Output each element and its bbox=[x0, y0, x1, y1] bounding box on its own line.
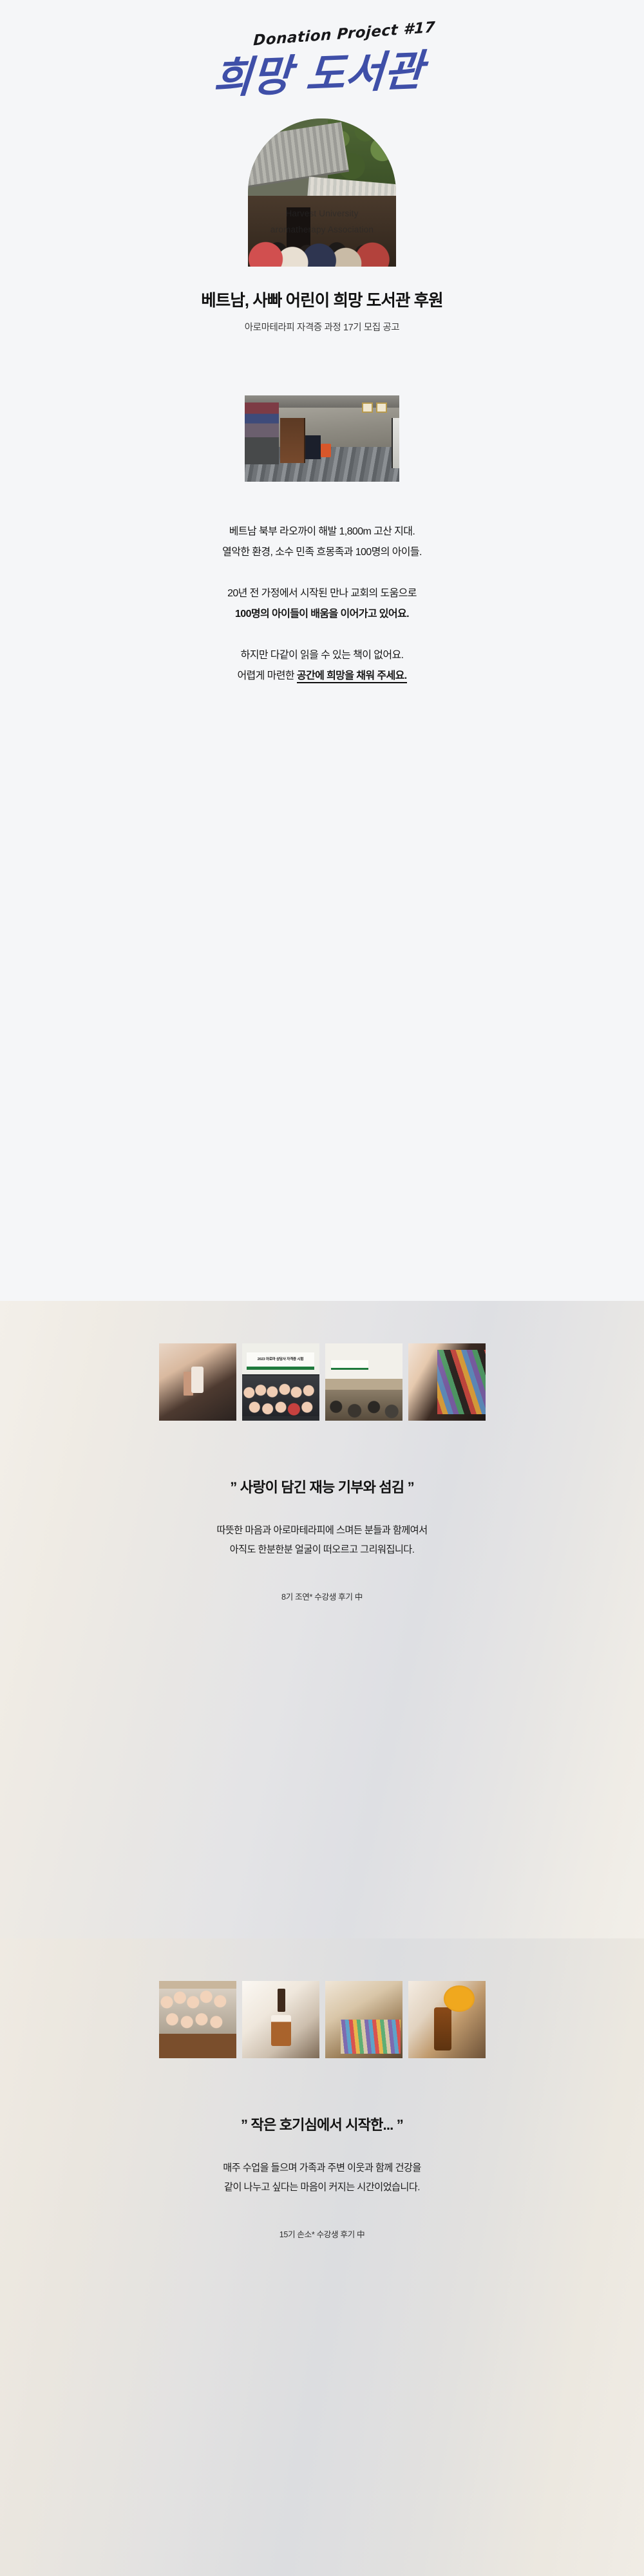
photo-grid-2 bbox=[0, 1938, 644, 2058]
testimonial-1-line1: 따뜻한 마음과 아로마테라피에 스며든 분들과 함께여서 bbox=[0, 1521, 644, 1540]
hero-section: Donation Project #17 희망 도서관 Harvest Univ… bbox=[0, 0, 644, 1301]
room-wall-frame-right bbox=[376, 402, 387, 413]
photo-dropper-into-jar[interactable] bbox=[242, 1981, 319, 2058]
testimonial-2-body: 매주 수업을 들으며 가족과 주변 이웃과 함께 건강을 같이 나누고 싶다는 … bbox=[0, 2159, 644, 2198]
story-p2-line1: 20년 전 가정에서 시작된 만나 교회의 도움으로 bbox=[0, 583, 644, 604]
testimonial-2-line2: 같이 나누고 싶다는 마음이 커지는 시간이었습니다. bbox=[0, 2178, 644, 2197]
exam-group-people bbox=[242, 1376, 319, 1416]
testimonial-1-body: 따뜻한 마음과 아로마테라피에 스며든 분들과 함께여서 아직도 한분한분 얼굴… bbox=[0, 1521, 644, 1560]
room-wall-frame-left bbox=[362, 402, 373, 413]
donation-landing-page: Donation Project #17 희망 도서관 Harvest Univ… bbox=[0, 0, 644, 2576]
testimonial-1-title: ” 사랑이 담긴 재능 기부와 섬김 ” bbox=[0, 1476, 644, 1497]
page-subtitle: 아로마테라피 자격증 과정 17기 모집 공고 bbox=[0, 320, 644, 334]
page-title: 베트남, 사빠 어린이 희망 도서관 후원 bbox=[0, 287, 644, 311]
story-p3-prefix: 어렵게 마련한 bbox=[237, 670, 296, 681]
testimonial-2-attribution: 15기 손소* 수강생 후기 中 bbox=[0, 2228, 644, 2240]
photo-test-strips[interactable] bbox=[408, 1343, 486, 1421]
story-copy: 베트남 북부 라오까이 해발 1,800m 고산 지대. 열악한 환경, 소수 … bbox=[0, 522, 644, 687]
room-compressor bbox=[321, 444, 332, 457]
room-cabinet bbox=[280, 418, 305, 463]
hero-photo-children bbox=[248, 216, 396, 267]
hero-photo bbox=[248, 118, 396, 267]
exam-banner-text: 2023 아로마 상담사 자격증 시험 bbox=[242, 1356, 319, 1361]
room-black-case bbox=[305, 435, 321, 460]
library-room-photo bbox=[245, 395, 399, 482]
testimonial-2-title: ” 작은 호기심에서 시작한... ” bbox=[0, 2114, 644, 2134]
testimonial-section-2: ” 작은 호기심에서 시작한... ” 매주 수업을 들으며 가족과 주변 이웃… bbox=[0, 1938, 644, 2576]
story-paragraph-3: 하지만 다같이 읽을 수 있는 책이 없어요. 어렵게 마련한 공간에 희망을 … bbox=[0, 645, 644, 687]
story-p1-line2: 열악한 환경, 소수 민족 흐몽족과 100명의 아이들. bbox=[0, 542, 644, 563]
photo-grid-1: 2023 아로마 상담사 자격증 시험 bbox=[0, 1301, 644, 1421]
room-shelf bbox=[245, 402, 279, 464]
photo-color-cards-table[interactable] bbox=[325, 1981, 402, 2058]
story-p1-line1: 베트남 북부 라오까이 해발 1,800m 고산 지대. bbox=[0, 522, 644, 542]
photo-pouring-oil[interactable] bbox=[408, 1981, 486, 2058]
story-paragraph-2: 20년 전 가정에서 시작된 만나 교회의 도움으로 100명의 아이들이 배움… bbox=[0, 583, 644, 625]
photo-group-indoor[interactable] bbox=[159, 1981, 236, 2058]
story-paragraph-1: 베트남 북부 라오까이 해발 1,800m 고산 지대. 열악한 환경, 소수 … bbox=[0, 522, 644, 563]
story-p3-line1: 하지만 다같이 읽을 수 있는 책이 없어요. bbox=[0, 645, 644, 666]
testimonial-1-line2: 아직도 한분한분 얼굴이 떠오르고 그리워집니다. bbox=[0, 1540, 644, 1560]
room-doorway bbox=[392, 418, 399, 468]
photo-lecture-room[interactable] bbox=[325, 1343, 402, 1421]
story-p3-emphasis: 공간에 희망을 채워 주세요. bbox=[297, 670, 407, 683]
photo-hands-spray-bottle[interactable] bbox=[159, 1343, 236, 1421]
story-p2-line2: 100명의 아이들이 배움을 이어가고 있어요. bbox=[0, 604, 644, 625]
photo-group-certificate-exam[interactable]: 2023 아로마 상담사 자격증 시험 bbox=[242, 1343, 319, 1421]
story-p2-line2-bold: 100명의 아이들이 배움을 이어가고 있어요. bbox=[235, 609, 409, 620]
testimonial-1-attribution: 8기 조연* 수강생 후기 中 bbox=[0, 1590, 644, 1602]
testimonial-section-1: 2023 아로마 상담사 자격증 시험 ” 사랑이 담긴 재능 기부와 섬김 ”… bbox=[0, 1301, 644, 1938]
brush-title-text: 희망 도서관 bbox=[211, 46, 430, 104]
brush-title: 희망 도서관 bbox=[0, 40, 644, 107]
brush-title-svg: 희망 도서관 bbox=[187, 40, 457, 107]
story-p3-line2: 어렵게 마련한 공간에 희망을 채워 주세요. bbox=[0, 666, 644, 687]
testimonial-2-line1: 매주 수업을 들으며 가족과 주변 이웃과 함께 건강을 bbox=[0, 2159, 644, 2178]
